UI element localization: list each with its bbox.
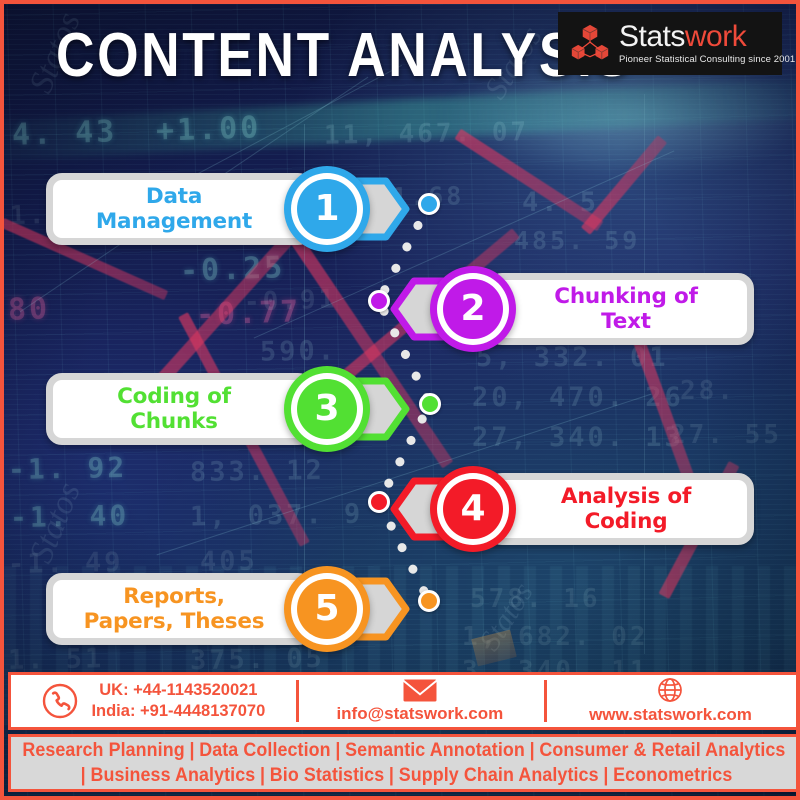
phone-numbers: UK: +44-1143520021 India: +91-4448137070 [91,680,265,722]
badge-disc: 1 [297,179,357,239]
services-separator: | [185,740,199,761]
badge-disc: 5 [297,579,357,639]
website-url: www.statswork.com [589,704,752,725]
infographic-poster: 4. 43+1.0011, 467. 07-1.684. 5485. 59-0.… [0,0,800,800]
contact-bar: UK: +44-1143520021 India: +91-4448137070… [8,672,800,730]
step-label: Data Management [96,184,252,234]
service-item: Data Collection [199,740,330,761]
step-label: Coding of Chunks [117,384,231,434]
step-number-badge: 1 [284,166,370,252]
process-step-2[interactable]: Chunking of Text2 [390,261,754,357]
services-separator: | [255,765,269,786]
services-separator: | [598,765,612,786]
step-number-badge: 2 [430,266,516,352]
contact-website[interactable]: www.statswork.com [544,675,797,727]
step-number-badge: 4 [430,466,516,552]
globe-icon [657,677,683,703]
service-item: Bio Statistics [270,765,384,786]
contact-email[interactable]: info@statswork.com [296,675,544,727]
envelope-icon [403,679,437,702]
step-label-plate: Data Management [46,173,314,245]
step-number-badge: 5 [284,566,370,652]
step-number: 2 [460,291,485,327]
service-item: Business Analytics [90,765,255,786]
step-label-plate: Analysis of Coding [486,473,754,545]
services-separator: | [384,765,398,786]
step-label: Analysis of Coding [561,484,691,534]
services-separator: | [331,740,345,761]
badge-disc: 3 [297,379,357,439]
badge-disc: 2 [443,279,503,339]
step-label-plate: Reports, Papers, Theses [46,573,314,645]
process-step-1[interactable]: Data Management1 [46,161,410,257]
service-item: Supply Chain Analytics [399,765,599,786]
step-label: Chunking of Text [554,284,697,334]
step-label: Reports, Papers, Theses [84,584,265,634]
services-separator: | [525,740,539,761]
step-number-badge: 3 [284,366,370,452]
service-item: Semantic Annotation [345,740,525,761]
services-row-1: Research Planning|Data Collection|Semant… [22,738,785,763]
step-number: 5 [314,591,339,627]
step-number: 1 [314,191,339,227]
badge-disc: 4 [443,479,503,539]
services-bar: Research Planning|Data Collection|Semant… [8,734,800,792]
process-step-5[interactable]: Reports, Papers, Theses5 [46,561,410,657]
step-label-plate: Chunking of Text [486,273,754,345]
services-separator: | [76,765,90,786]
process-step-3[interactable]: Coding of Chunks3 [46,361,410,457]
service-item: Research Planning [22,740,184,761]
phone-icon [41,682,79,720]
email-address: info@statswork.com [336,703,503,724]
step-number: 4 [460,491,485,527]
contact-phone[interactable]: UK: +44-1143520021 India: +91-4448137070 [11,675,296,727]
service-item: Consumer & Retail Analytics [540,740,786,761]
step-label-plate: Coding of Chunks [46,373,314,445]
process-step-4[interactable]: Analysis of Coding4 [390,461,754,557]
service-item: Econometrics [613,765,732,786]
services-row-2: |Business Analytics|Bio Statistics|Suppl… [76,763,732,788]
step-number: 3 [314,391,339,427]
